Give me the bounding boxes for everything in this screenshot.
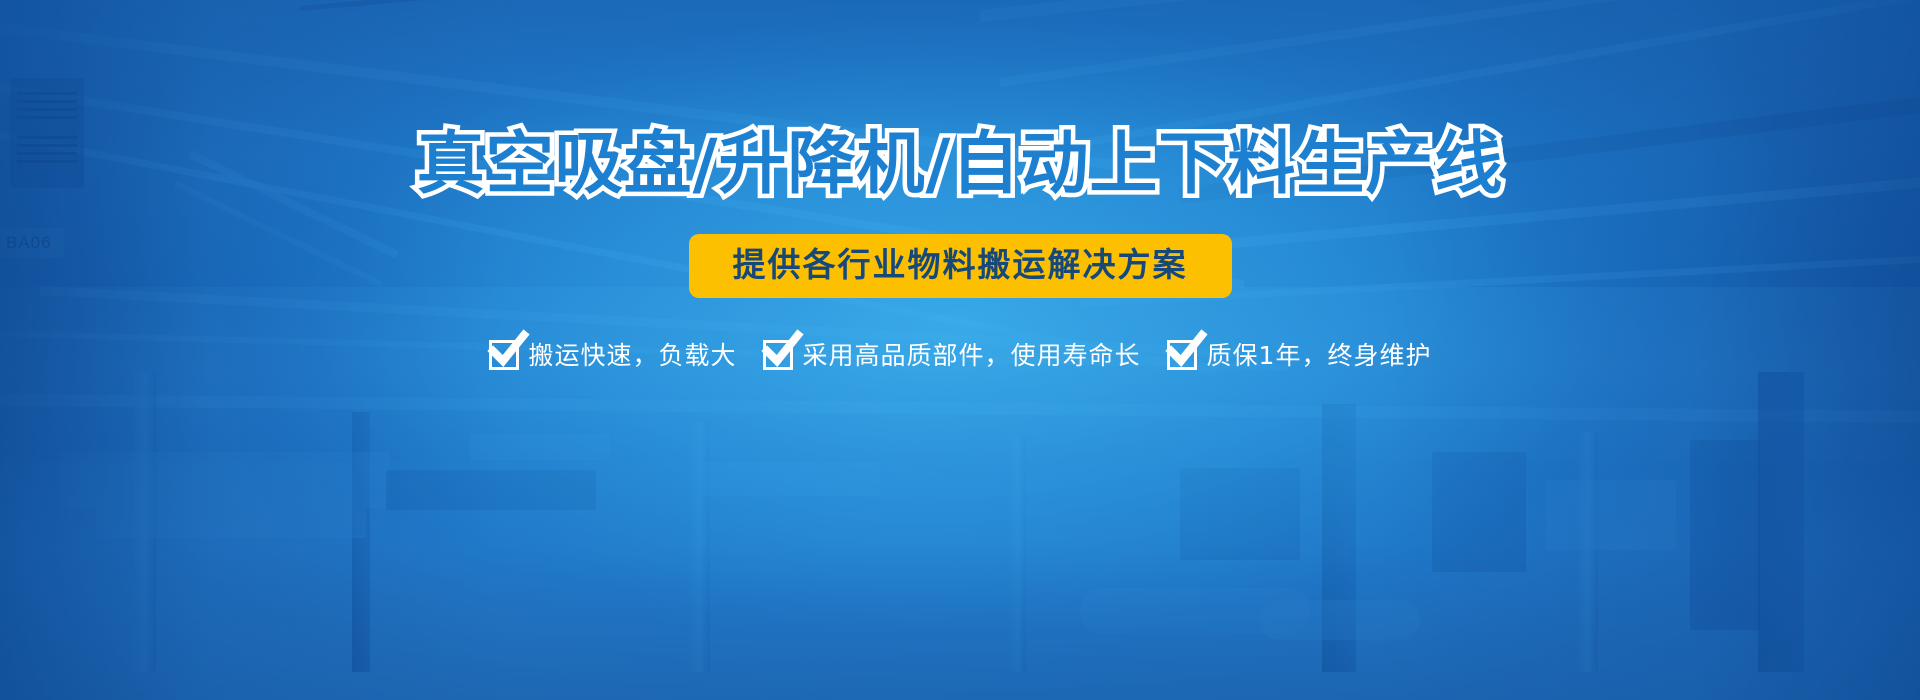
checkbox-check-icon — [763, 340, 793, 370]
feature-label: 质保1年，终身维护 — [1207, 343, 1432, 368]
subtitle-badge: 提供各行业物料搬运解决方案 — [689, 234, 1232, 298]
banner-headline: 真空吸盘/升降机/自动上下料生产线 — [0, 131, 1920, 199]
checkbox-check-icon — [489, 340, 519, 370]
subtitle-row: 提供各行业物料搬运解决方案 — [0, 234, 1920, 298]
feature-list: 搬运快速，负载大 采用高品质部件，使用寿命长 质保1年，终身维护 — [0, 340, 1920, 370]
feature-item-2: 采用高品质部件，使用寿命长 — [763, 340, 1141, 370]
feature-label: 采用高品质部件，使用寿命长 — [803, 343, 1141, 368]
feature-item-3: 质保1年，终身维护 — [1167, 340, 1432, 370]
banner-content: 真空吸盘/升降机/自动上下料生产线 提供各行业物料搬运解决方案 搬运快速，负载大 — [0, 0, 1920, 700]
hero-banner: BA06 真空吸盘/升降机/自动上下料生产线 提供各行业物料搬运解决方案 搬运快… — [0, 0, 1920, 700]
feature-label: 搬运快速，负载大 — [529, 343, 737, 368]
checkbox-check-icon — [1167, 340, 1197, 370]
feature-item-1: 搬运快速，负载大 — [489, 340, 737, 370]
